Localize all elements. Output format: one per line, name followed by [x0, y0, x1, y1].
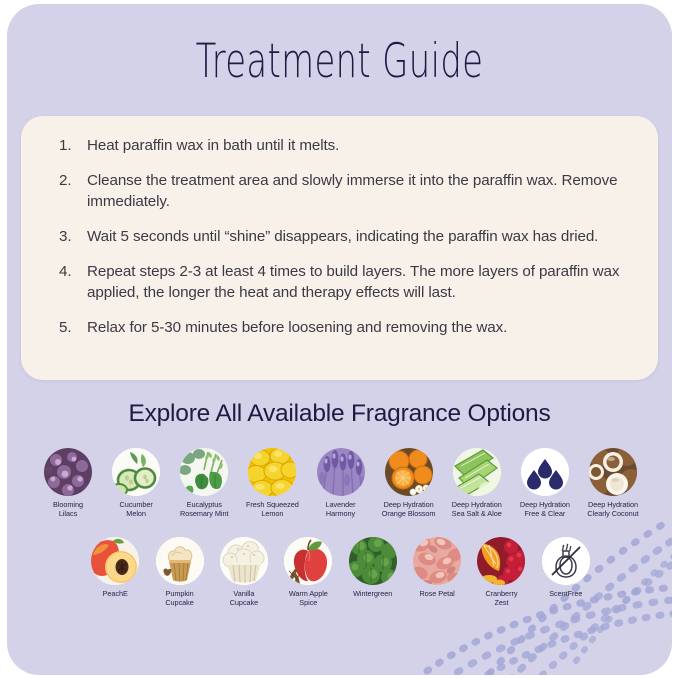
fragrance-option[interactable]: Cucumber Melon	[103, 448, 169, 518]
fragrance-option[interactable]: ScentFree	[534, 537, 598, 598]
fragrance-label: Deep Hydration Clearly Coconut	[587, 500, 638, 518]
fragrance-label: Lavender Harmony	[325, 500, 355, 518]
fragrance-label: ScentFree	[549, 589, 582, 598]
cranberry-icon	[477, 537, 525, 585]
instructions-card: Heat paraffin wax in bath until it melts…	[21, 116, 658, 380]
wintergreen-icon	[349, 537, 397, 585]
rose-petal-icon	[413, 537, 461, 585]
list-item: Heat paraffin wax in bath until it melts…	[43, 135, 640, 156]
lavender-icon	[317, 448, 365, 496]
peach-icon	[91, 537, 139, 585]
list-item: Cleanse the treatment area and slowly im…	[43, 170, 640, 212]
coconut-icon	[589, 448, 637, 496]
fragrance-label: Vanilla Cupcake	[230, 589, 258, 607]
list-item: Wait 5 seconds until “shine” disappears,…	[43, 226, 640, 247]
instruction-list: Heat paraffin wax in bath until it melts…	[21, 116, 658, 338]
treatment-guide-page: Treatment Guide Heat paraffin wax in bat…	[0, 0, 679, 679]
fragrance-option[interactable]: Warm Apple Spice	[276, 537, 340, 607]
fragrance-label: Rose Petal	[419, 589, 454, 598]
fragrance-option[interactable]: Cranberry Zest	[469, 537, 533, 607]
fragrance-option[interactable]: Deep Hydration Clearly Coconut	[580, 448, 646, 518]
fragrance-option[interactable]: Deep Hydration Sea Salt & Aloe	[444, 448, 510, 518]
fragrance-section-heading: Explore All Available Fragrance Options	[7, 400, 672, 428]
fragrance-label: Pumpkin Cupcake	[165, 589, 193, 607]
fragrance-label: Blooming Lilacs	[53, 500, 83, 518]
fragrance-option[interactable]: Pumpkin Cupcake	[147, 537, 211, 607]
eucalyptus-icon	[180, 448, 228, 496]
fragrance-row-2: PeachE Pumpkin Cupcake	[83, 537, 598, 607]
fragrance-label: PeachE	[103, 589, 128, 598]
fragrance-option[interactable]: Lavender Harmony	[308, 448, 374, 518]
fragrance-label: Fresh Squeezed Lemon	[246, 500, 299, 518]
lemon-icon	[248, 448, 296, 496]
fragrance-option[interactable]: Rose Petal	[405, 537, 469, 598]
fragrance-label: Deep Hydration Orange Blossom	[382, 500, 436, 518]
fragrance-option[interactable]: Deep Hydration Orange Blossom	[376, 448, 442, 518]
fragrance-option[interactable]: Vanilla Cupcake	[212, 537, 276, 607]
fragrance-option[interactable]: Blooming Lilacs	[35, 448, 101, 518]
fragrance-label: Warm Apple Spice	[289, 589, 328, 607]
lilac-icon	[44, 448, 92, 496]
water-droplets-icon	[521, 448, 569, 496]
fragrance-label: Cranberry Zest	[485, 589, 517, 607]
apple-spice-icon	[284, 537, 332, 585]
fragrance-label: Cucumber Melon	[119, 500, 152, 518]
fragrance-row-1: Blooming Lilacs Cucumber Melon	[35, 448, 646, 518]
fragrance-label: Wintergreen	[353, 589, 392, 598]
pumpkin-cupcake-icon	[156, 537, 204, 585]
fragrance-option[interactable]: Eucalyptus Rosemary Mint	[171, 448, 237, 518]
fragrance-option[interactable]: PeachE	[83, 537, 147, 598]
cucumber-icon	[112, 448, 160, 496]
fragrance-option[interactable]: Deep Hydration Free & Clear	[512, 448, 578, 518]
vanilla-cupcake-icon	[220, 537, 268, 585]
page-title: Treatment Guide	[100, 34, 579, 89]
fragrance-option[interactable]: Wintergreen	[341, 537, 405, 598]
lavender-panel: Treatment Guide Heat paraffin wax in bat…	[7, 4, 672, 675]
list-item: Relax for 5-30 minutes before loosening …	[43, 317, 640, 338]
fragrance-label: Deep Hydration Sea Salt & Aloe	[452, 500, 502, 518]
fragrance-option[interactable]: Fresh Squeezed Lemon	[239, 448, 305, 518]
aloe-icon	[453, 448, 501, 496]
orange-blossom-icon	[385, 448, 433, 496]
scent-free-icon	[542, 537, 590, 585]
fragrance-label: Eucalyptus Rosemary Mint	[180, 500, 228, 518]
fragrance-label: Deep Hydration Free & Clear	[520, 500, 570, 518]
list-item: Repeat steps 2-3 at least 4 times to bui…	[43, 261, 640, 303]
